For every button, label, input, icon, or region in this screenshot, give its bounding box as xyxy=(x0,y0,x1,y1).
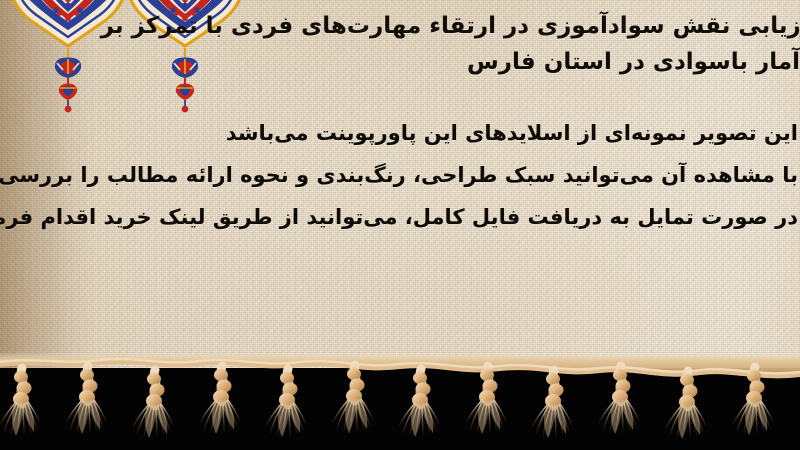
slide-canvas: رزیابی نقش سوادآموزی در ارتقاء مهارت‌های… xyxy=(0,0,800,450)
fringe-tassels xyxy=(0,352,800,450)
slide-body: این تصویر نمونه‌ای از اسلایدهای این پاور… xyxy=(20,112,798,238)
slide-body-line-3: در صورت تمایل به دریافت فایل کامل، می‌تو… xyxy=(20,196,798,238)
slide-title-line-2: آمار باسوادی در استان فارس xyxy=(230,44,800,80)
carpet-fringe xyxy=(0,352,800,450)
slide-body-line-2: با مشاهده آن می‌توانید سبک طراحی، رنگ‌بن… xyxy=(20,154,798,196)
slide-body-line-1: این تصویر نمونه‌ای از اسلایدهای این پاور… xyxy=(20,112,798,154)
slide-title-line-1: رزیابی نقش سوادآموزی در ارتقاء مهارت‌های… xyxy=(230,8,800,44)
slide-title: رزیابی نقش سوادآموزی در ارتقاء مهارت‌های… xyxy=(230,8,800,80)
